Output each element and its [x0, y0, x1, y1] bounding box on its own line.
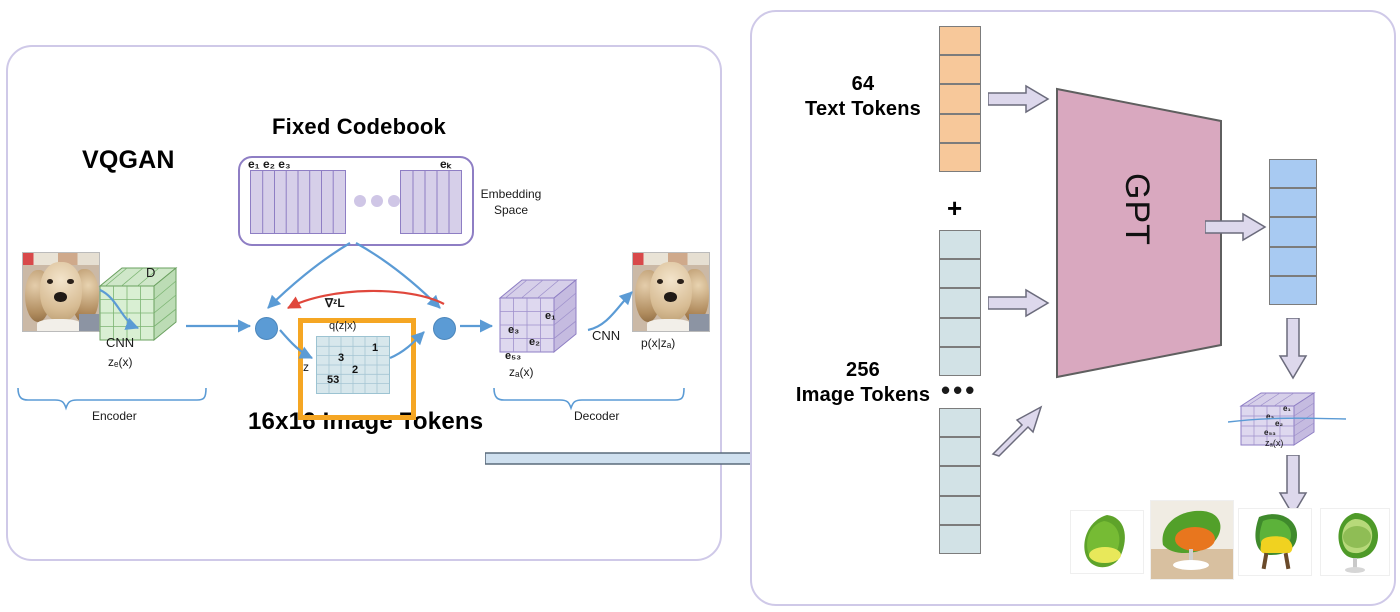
- decoder-code-e53: e₅₃: [1264, 428, 1276, 437]
- token-cell: [939, 230, 981, 259]
- sample-image-4: [1320, 508, 1390, 576]
- plus-sign: +: [947, 193, 962, 224]
- token-cell: [939, 496, 981, 525]
- token-cell: [939, 259, 981, 288]
- diagram-canvas: VQGAN Fixed Codebook 16x16 Image Tokens: [0, 0, 1400, 612]
- token-cell: [939, 408, 981, 437]
- sample-image-3: [1238, 508, 1312, 576]
- token-cell: [939, 347, 981, 376]
- gpt-model-label: GPT: [1117, 173, 1156, 246]
- token-cell: [1269, 247, 1317, 276]
- token-cell: [939, 288, 981, 317]
- decoder-code-e1: e₁: [1283, 404, 1291, 413]
- decoder-zq-label: zₐ(x): [1265, 438, 1283, 448]
- token-cell: [939, 525, 981, 554]
- token-cell: [1269, 217, 1317, 246]
- token-cell: [939, 143, 981, 172]
- token-cell: [939, 84, 981, 113]
- vqgan-connectors: [0, 0, 730, 612]
- token-cell: [939, 466, 981, 495]
- image-tokens-caption: 256 Image Tokens: [793, 358, 933, 408]
- text-tokens-count: 64: [803, 72, 923, 97]
- text-tokens-caption: 64 Text Tokens: [803, 72, 923, 122]
- sample-image-2: [1150, 500, 1234, 580]
- token-cell: [939, 26, 981, 55]
- image-tokens-label: Image Tokens: [793, 383, 933, 408]
- token-cell: [1269, 188, 1317, 217]
- output-token-column: [1269, 159, 1317, 305]
- token-cell: [939, 437, 981, 466]
- token-cell: [939, 114, 981, 143]
- tokens-ellipsis: •••: [941, 375, 977, 406]
- token-cell: [939, 55, 981, 84]
- image-tokens-into-gpt-arrow: [988, 288, 1050, 318]
- gpt-output-arrow: [1205, 212, 1267, 242]
- text-tokens-into-gpt-arrow: [988, 84, 1050, 114]
- image-tokens-bottom-into-gpt-arrow: [988, 398, 1048, 460]
- token-cell: [1269, 159, 1317, 188]
- encoder-label: Encoder: [92, 409, 137, 423]
- sample-image-1: [1070, 510, 1144, 574]
- decoder-label: Decoder: [574, 409, 619, 423]
- image-tokens-count: 256: [793, 358, 933, 383]
- image-token-column-bottom: [939, 408, 981, 554]
- tokens-to-decoder-arrow: [1278, 318, 1308, 380]
- cube-cross-line: [1228, 417, 1348, 423]
- text-token-column: [939, 26, 981, 172]
- token-cell: [939, 318, 981, 347]
- text-tokens-label: Text Tokens: [803, 97, 923, 122]
- image-token-column-top: [939, 230, 981, 376]
- token-cell: [1269, 276, 1317, 305]
